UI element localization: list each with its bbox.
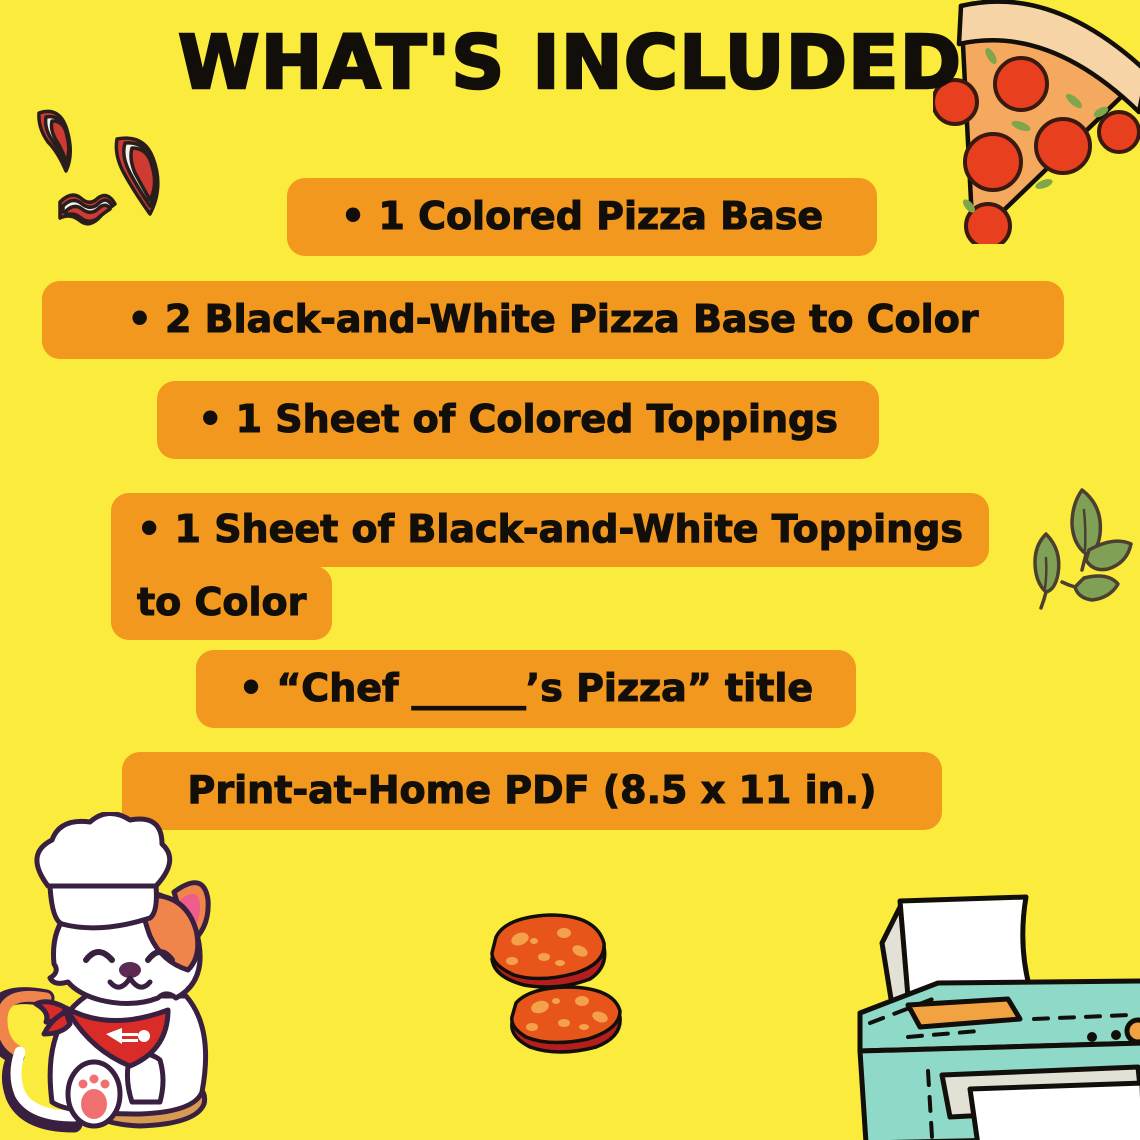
list-item: • 2 Black-and-White Pizza Base to Color [42,281,1064,359]
list-item-pill: • 1 Sheet of Black-and-White Toppings to… [111,493,989,640]
page-title: WHAT'S INCLUDED [0,26,1140,100]
list-item: • 1 Colored Pizza Base [287,178,877,256]
list-item-pill: • “Chef ______’s Pizza” title [196,650,856,728]
printer-icon [830,885,1140,1140]
chef-cat-icon [0,812,280,1140]
list-item-text: • 2 Black-and-White Pizza Base to Color [127,300,978,338]
list-item-text-line1: • 1 Sheet of Black-and-White Toppings [111,493,989,567]
list-item-pill: • 1 Colored Pizza Base [287,178,877,256]
list-item: • “Chef ______’s Pizza” title [196,650,856,728]
list-item-text: • “Chef ______’s Pizza” title [239,669,813,707]
list-item: • 1 Sheet of Colored Toppings [157,381,879,459]
list-item-text: Print-at-Home PDF (8.5 x 11 in.) [188,771,877,809]
list-item-text: • 1 Sheet of Colored Toppings [198,400,838,438]
list-item: • 1 Sheet of Black-and-White Toppings to… [111,493,989,640]
basil-leaves-icon [1010,482,1140,617]
list-item-text: • 1 Colored Pizza Base [341,197,823,235]
list-item-text-line2: to Color [111,566,332,640]
poster-canvas: WHAT'S INCLUDED [0,0,1140,1140]
list-item-pill: • 2 Black-and-White Pizza Base to Color [42,281,1064,359]
list-item-pill: • 1 Sheet of Colored Toppings [157,381,879,459]
